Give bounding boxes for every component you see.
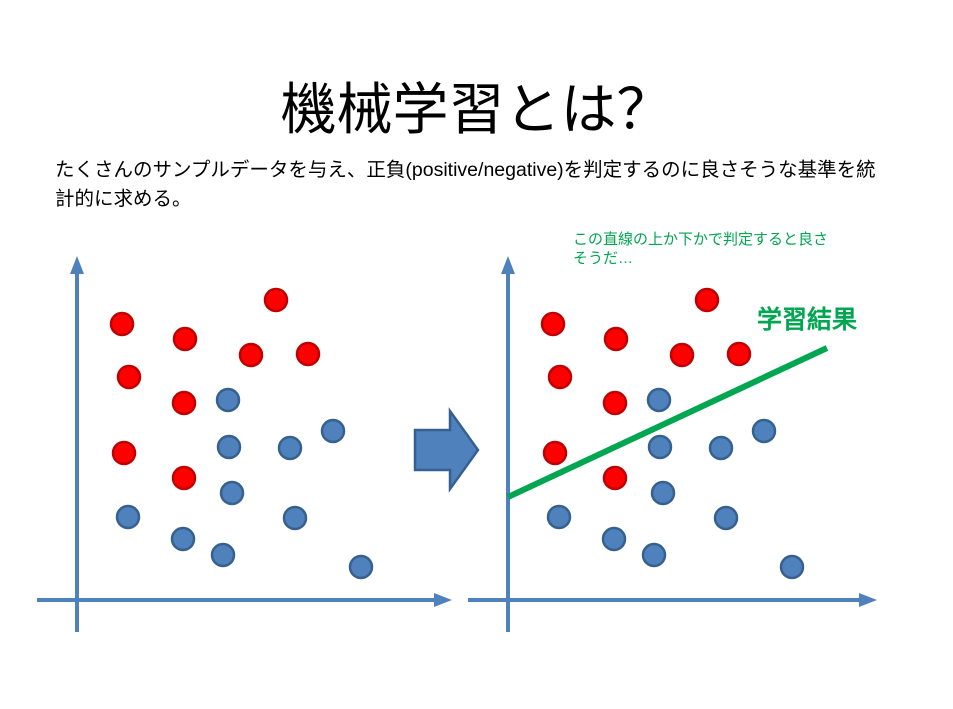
data-point-negative: [753, 420, 775, 442]
left-y-axis: [70, 256, 84, 632]
page-title: 機械学習とは？: [0, 78, 953, 142]
chart-before-learning: [37, 256, 452, 632]
data-point-negative: [715, 507, 737, 529]
left-data-points: [111, 289, 372, 578]
data-point-negative: [172, 528, 194, 550]
data-point-positive: [542, 313, 564, 335]
learning-result-label: 学習結果: [757, 305, 857, 335]
data-point-negative: [781, 556, 803, 578]
data-point-positive: [544, 442, 566, 464]
data-point-negative: [603, 528, 625, 550]
right-x-axis: [468, 593, 877, 607]
learned-decision-boundary: [508, 348, 827, 497]
data-point-negative: [279, 437, 301, 459]
decision-line-note: この直線の上か下かで判定すると良さそうだ…: [573, 230, 833, 268]
data-point-positive: [604, 467, 626, 489]
data-point-positive: [118, 366, 140, 388]
data-point-negative: [322, 420, 344, 442]
data-point-negative: [548, 506, 570, 528]
data-point-positive: [605, 328, 627, 350]
data-point-positive: [671, 344, 693, 366]
data-point-negative: [643, 544, 665, 566]
data-point-positive: [297, 343, 319, 365]
slide-subtitle: たくさんのサンプルデータを与え、正負(positive/negative)を判定…: [55, 156, 885, 214]
data-point-positive: [604, 392, 626, 414]
data-point-positive: [696, 289, 718, 311]
data-point-positive: [111, 313, 133, 335]
data-point-negative: [652, 482, 674, 504]
data-point-negative: [218, 436, 240, 458]
data-point-negative: [284, 507, 306, 529]
data-point-negative: [710, 437, 732, 459]
data-point-positive: [240, 344, 262, 366]
data-point-positive: [113, 442, 135, 464]
data-point-positive: [265, 289, 287, 311]
data-point-positive: [174, 328, 196, 350]
left-x-axis: [37, 593, 452, 607]
data-point-negative: [648, 389, 670, 411]
data-point-negative: [217, 389, 239, 411]
data-point-negative: [649, 436, 671, 458]
data-point-positive: [173, 392, 195, 414]
data-point-negative: [221, 482, 243, 504]
right-block-arrow: [415, 411, 478, 489]
slide-canvas: 機械学習とは？ たくさんのサンプルデータを与え、正負(positive/nega…: [0, 0, 953, 709]
data-point-negative: [212, 544, 234, 566]
right-y-axis: [501, 256, 515, 632]
data-point-positive: [728, 343, 750, 365]
data-point-negative: [117, 506, 139, 528]
data-point-negative: [350, 556, 372, 578]
data-point-positive: [549, 366, 571, 388]
data-point-positive: [173, 467, 195, 489]
